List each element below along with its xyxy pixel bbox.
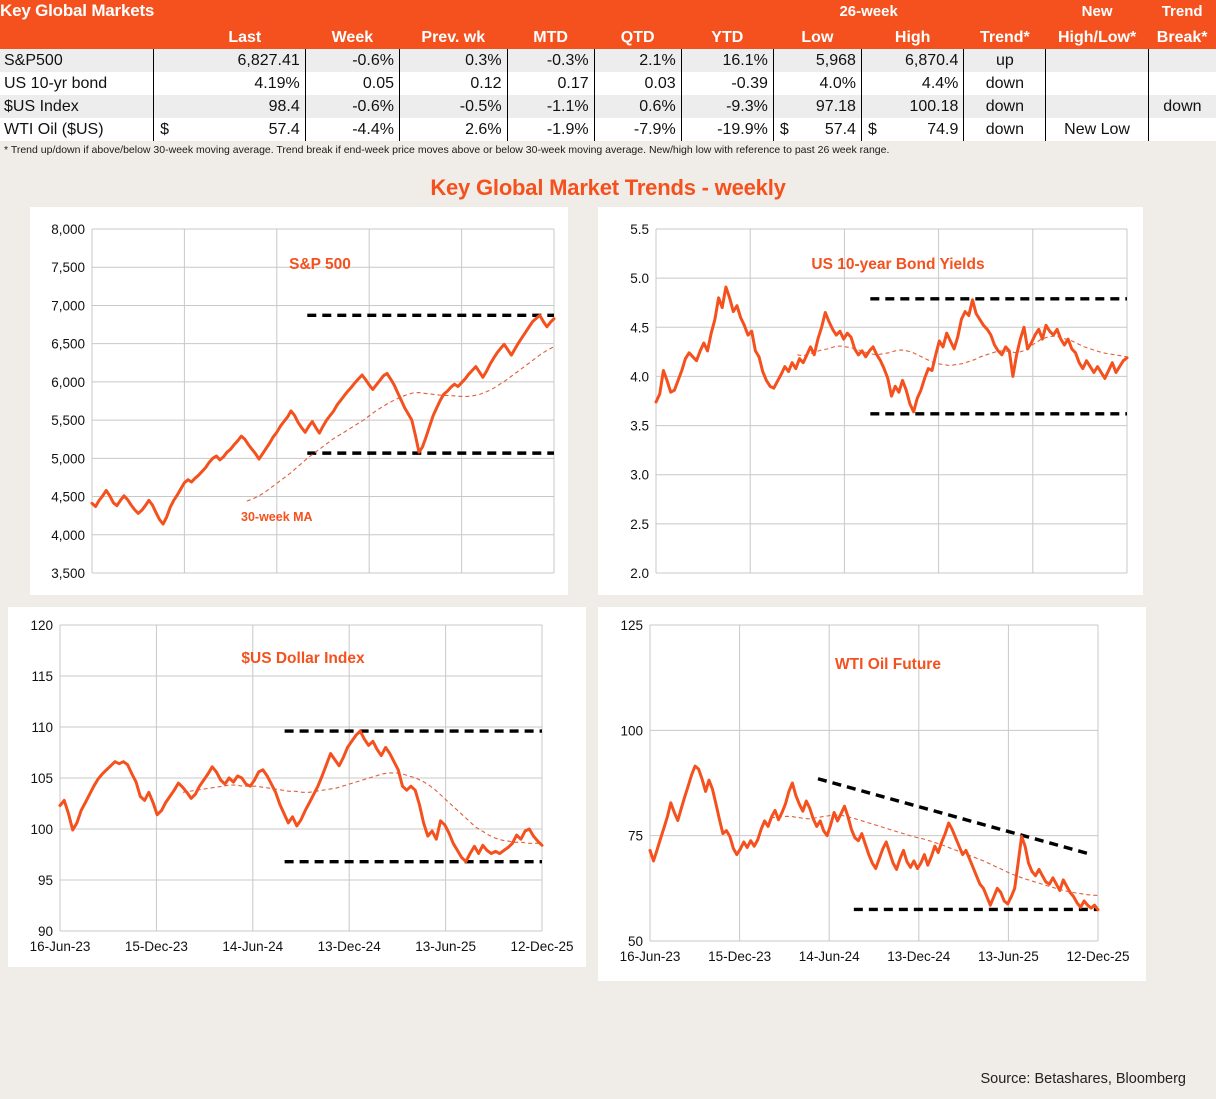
row-label: WTI Oil ($US) — [0, 118, 154, 141]
chart-panel-us10y: 2.02.53.03.54.04.55.05.5US 10-year Bond … — [598, 207, 1143, 595]
new-highlow-header-line1: New — [1046, 0, 1148, 22]
row-currency — [154, 49, 185, 72]
col-header-trend-break: Break* — [1148, 22, 1216, 49]
col-header-high: High — [861, 22, 963, 49]
wti-chart: 507510012516-Jun-2315-Dec-2314-Jun-2413-… — [598, 607, 1146, 981]
moving-average-line — [247, 347, 554, 501]
y-axis-tick-label: 4,000 — [51, 528, 85, 543]
chart-panel-usdindex: 909510010511011512016-Jun-2315-Dec-2314-… — [8, 607, 586, 967]
row-low-currency — [773, 95, 793, 118]
key-global-markets-table: Key Global Markets 26-week New Trend Las… — [0, 0, 1216, 141]
table-title-row: Key Global Markets 26-week New Trend — [0, 0, 1216, 22]
y-axis-tick-label: 3.5 — [630, 419, 649, 434]
row-high-currency — [861, 49, 881, 72]
x-axis-tick-label: 15-Dec-23 — [125, 939, 188, 954]
x-axis-tick-label: 12-Dec-25 — [1066, 949, 1129, 964]
charts-container: 3,5004,0004,5005,0005,5006,0006,5007,000… — [0, 207, 1216, 997]
row-currency — [154, 72, 185, 95]
y-axis-tick-label: 120 — [30, 618, 53, 633]
row-ytd: -19.9% — [681, 118, 773, 141]
y-axis-tick-label: 2.5 — [630, 517, 649, 532]
row-low-currency — [773, 49, 793, 72]
x-axis-tick-label: 16-Jun-23 — [620, 949, 681, 964]
row-new-highlow — [1046, 72, 1148, 95]
row-currency — [154, 95, 185, 118]
y-axis-tick-label: 4.5 — [630, 320, 649, 335]
y-axis-tick-label: 110 — [31, 720, 53, 735]
row-last: 57.4 — [184, 118, 305, 141]
row-qtd: 0.03 — [594, 72, 681, 95]
y-axis-tick-label: 105 — [30, 771, 53, 786]
row-prev-wk: 2.6% — [399, 118, 507, 141]
row-prev-wk: -0.5% — [399, 95, 507, 118]
chart-panel-wti: 507510012516-Jun-2315-Dec-2314-Jun-2413-… — [598, 607, 1146, 981]
y-axis-tick-label: 90 — [38, 924, 53, 939]
y-axis-tick-label: 4,500 — [51, 490, 85, 505]
x-axis-tick-label: 16-Jun-23 — [30, 939, 91, 954]
table-title: Key Global Markets — [0, 0, 184, 22]
row-ytd: -0.39 — [681, 72, 773, 95]
col-header-week: Week — [305, 22, 399, 49]
table-row: $US Index 98.4 -0.6% -0.5% -1.1% 0.6% -9… — [0, 95, 1216, 118]
row-prev-wk: 0.12 — [399, 72, 507, 95]
row-ytd: 16.1% — [681, 49, 773, 72]
spacer-cell-2 — [964, 0, 1046, 22]
table-row: WTI Oil ($US) $ 57.4 -4.4% 2.6% -1.9% -7… — [0, 118, 1216, 141]
y-axis-tick-label: 4.0 — [630, 369, 649, 384]
row-high: 6,870.4 — [882, 49, 964, 72]
row-high: 100.18 — [882, 95, 964, 118]
row-mtd: 0.17 — [507, 72, 594, 95]
col-header-mtd: MTD — [507, 22, 594, 49]
y-axis-tick-label: 100 — [30, 822, 53, 837]
x-axis-tick-label: 15-Dec-23 — [708, 949, 771, 964]
row-new-highlow — [1046, 49, 1148, 72]
row-label: $US Index — [0, 95, 154, 118]
y-axis-tick-label: 7,000 — [51, 298, 85, 313]
chart-annotation: 30-week MA — [241, 510, 313, 524]
row-currency: $ — [154, 118, 185, 141]
row-mtd: -0.3% — [507, 49, 594, 72]
row-ytd: -9.3% — [681, 95, 773, 118]
source-label: Source: Betashares, Bloomberg — [980, 1071, 1186, 1087]
y-axis-tick-label: 6,500 — [51, 337, 85, 352]
x-axis-tick-label: 12-Dec-25 — [510, 939, 573, 954]
y-axis-tick-label: 50 — [628, 934, 643, 949]
price-series-line — [650, 766, 1098, 910]
y-axis-tick-label: 115 — [31, 669, 53, 684]
chart-title: $US Dollar Index — [241, 650, 365, 667]
sp500-chart: 3,5004,0004,5005,0005,5006,0006,5007,000… — [30, 207, 568, 595]
x-axis-tick-label: 13-Dec-24 — [318, 939, 382, 954]
row-qtd: 2.1% — [594, 49, 681, 72]
y-axis-tick-label: 3,500 — [51, 566, 85, 581]
row-mtd: -1.1% — [507, 95, 594, 118]
page-title: Key Global Market Trends - weekly — [0, 175, 1216, 201]
y-axis-tick-label: 5.0 — [630, 271, 649, 286]
row-mtd: -1.9% — [507, 118, 594, 141]
table-row: S&P500 6,827.41 -0.6% 0.3% -0.3% 2.1% 16… — [0, 49, 1216, 72]
col-header-low: Low — [773, 22, 861, 49]
row-low: 5,968 — [794, 49, 862, 72]
y-axis-tick-label: 75 — [628, 829, 643, 844]
row-low-currency: $ — [773, 118, 793, 141]
row-trend-break — [1148, 118, 1216, 141]
table-header-row: Last Week Prev. wk MTD QTD YTD Low High … — [0, 22, 1216, 49]
x-axis-tick-label: 14-Jun-24 — [799, 949, 860, 964]
row-high-currency — [861, 95, 881, 118]
col-header-blank — [0, 22, 154, 49]
y-axis-tick-label: 5.5 — [630, 222, 649, 237]
row-high-currency: $ — [861, 118, 881, 141]
price-series-line — [60, 731, 542, 862]
row-trend-break — [1148, 72, 1216, 95]
row-trend: down — [964, 95, 1046, 118]
row-high-currency — [861, 72, 881, 95]
moving-average-line — [183, 773, 542, 843]
y-axis-tick-label: 2.0 — [630, 566, 649, 581]
x-axis-tick-label: 13-Dec-24 — [887, 949, 951, 964]
row-trend-break — [1148, 49, 1216, 72]
table-row: US 10-yr bond 4.19% 0.05 0.12 0.17 0.03 … — [0, 72, 1216, 95]
row-last: 4.19% — [184, 72, 305, 95]
us10y-chart: 2.02.53.03.54.04.55.05.5US 10-year Bond … — [598, 207, 1143, 595]
row-low: 97.18 — [794, 95, 862, 118]
chart-title: S&P 500 — [289, 256, 351, 273]
chart-title: US 10-year Bond Yields — [811, 256, 984, 273]
y-axis-tick-label: 6,000 — [51, 375, 85, 390]
row-label: S&P500 — [0, 49, 154, 72]
table-footnote: * Trend up/down if above/below 30-week m… — [0, 141, 1216, 159]
usdindex-chart: 909510010511011512016-Jun-2315-Dec-2314-… — [8, 607, 586, 967]
row-week: -0.6% — [305, 49, 399, 72]
row-qtd: 0.6% — [594, 95, 681, 118]
row-low-currency — [773, 72, 793, 95]
group-header-26week: 26-week — [773, 0, 964, 22]
row-high: 74.9 — [882, 118, 964, 141]
col-header-trend: Trend* — [964, 22, 1046, 49]
x-axis-tick-label: 14-Jun-24 — [222, 939, 283, 954]
x-axis-tick-label: 13-Jun-25 — [978, 949, 1039, 964]
row-high: 4.4% — [882, 72, 964, 95]
y-axis-tick-label: 100 — [620, 723, 643, 738]
y-axis-tick-label: 3.0 — [630, 468, 649, 483]
row-week: 0.05 — [305, 72, 399, 95]
row-low: 57.4 — [794, 118, 862, 141]
row-last: 98.4 — [184, 95, 305, 118]
y-axis-tick-label: 8,000 — [51, 222, 85, 237]
row-last: 6,827.41 — [184, 49, 305, 72]
chart-title: WTI Oil Future — [835, 656, 941, 673]
col-header-currency — [154, 22, 185, 49]
row-new-highlow — [1046, 95, 1148, 118]
row-new-highlow: New Low — [1046, 118, 1148, 141]
trend-break-header-line1: Trend — [1148, 0, 1216, 22]
row-trend: down — [964, 72, 1046, 95]
chart-panel-sp500: 3,5004,0004,5005,0005,5006,0006,5007,000… — [30, 207, 568, 595]
col-header-new-highlow: High/Low* — [1046, 22, 1148, 49]
y-axis-tick-label: 7,500 — [51, 260, 85, 275]
row-prev-wk: 0.3% — [399, 49, 507, 72]
row-trend: down — [964, 118, 1046, 141]
y-axis-tick-label: 125 — [620, 618, 643, 633]
y-axis-tick-label: 5,000 — [51, 451, 85, 466]
col-header-last: Last — [184, 22, 305, 49]
row-week: -4.4% — [305, 118, 399, 141]
row-trend-break: down — [1148, 95, 1216, 118]
col-header-ytd: YTD — [681, 22, 773, 49]
row-label: US 10-yr bond — [0, 72, 154, 95]
row-low: 4.0% — [794, 72, 862, 95]
row-trend: up — [964, 49, 1046, 72]
row-qtd: -7.9% — [594, 118, 681, 141]
spacer-cell — [184, 0, 773, 22]
row-week: -0.6% — [305, 95, 399, 118]
col-header-qtd: QTD — [594, 22, 681, 49]
price-series-line — [656, 287, 1127, 412]
y-axis-tick-label: 5,500 — [51, 413, 85, 428]
y-axis-tick-label: 95 — [38, 873, 53, 888]
col-header-prev-wk: Prev. wk — [399, 22, 507, 49]
x-axis-tick-label: 13-Jun-25 — [415, 939, 476, 954]
